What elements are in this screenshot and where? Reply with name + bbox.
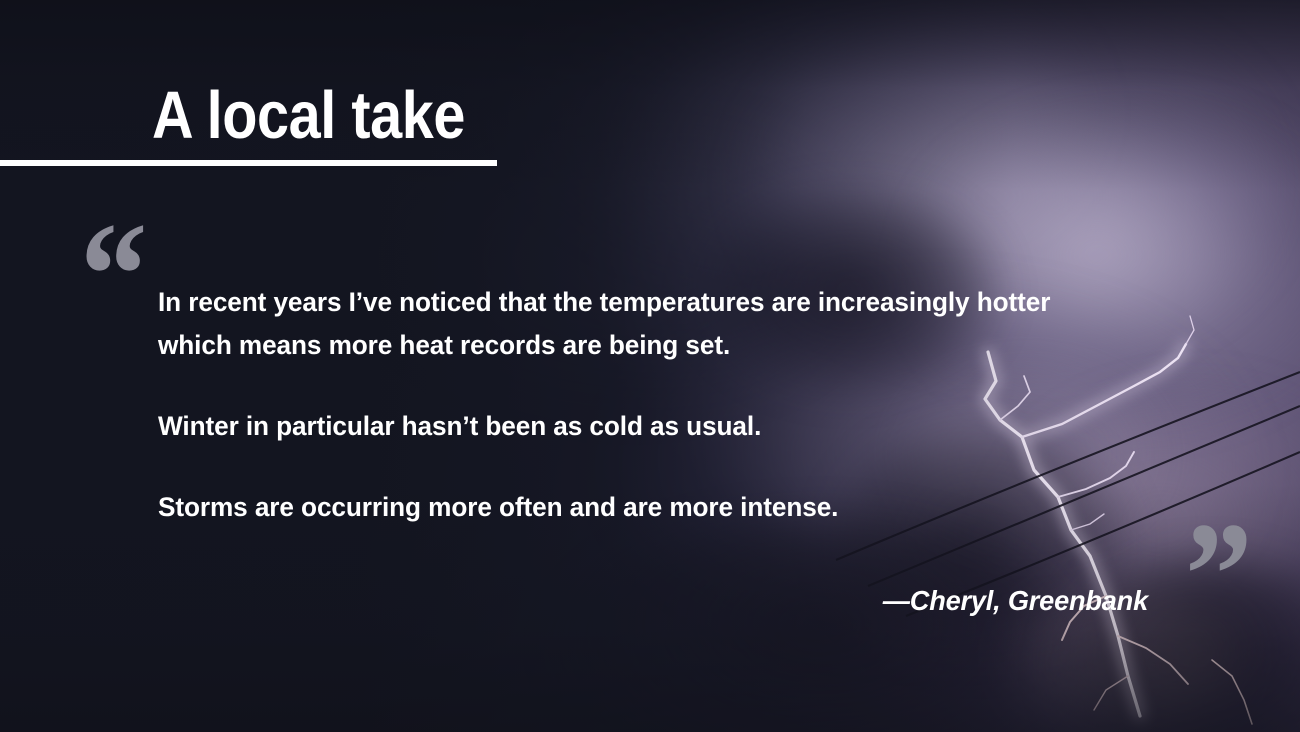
closing-quote-mark: ” <box>1185 500 1253 650</box>
title-underline-rule <box>0 160 497 166</box>
quote-attribution: —Cheryl, Greenbank <box>34 585 1148 617</box>
quote-paragraph-1: In recent years I’ve noticed that the te… <box>158 281 1118 367</box>
page-title: A local take <box>152 82 465 149</box>
slide-content: A local take “ In recent years I’ve noti… <box>0 0 1300 732</box>
opening-quote-mark: “ <box>80 200 148 350</box>
slide-a-local-take: A local take “ In recent years I’ve noti… <box>0 0 1300 732</box>
quote-paragraph-3: Storms are occurring more often and are … <box>158 486 1118 529</box>
quote-paragraph-2: Winter in particular hasn’t been as cold… <box>158 405 1118 448</box>
quote-text-block: In recent years I’ve noticed that the te… <box>158 281 1148 529</box>
